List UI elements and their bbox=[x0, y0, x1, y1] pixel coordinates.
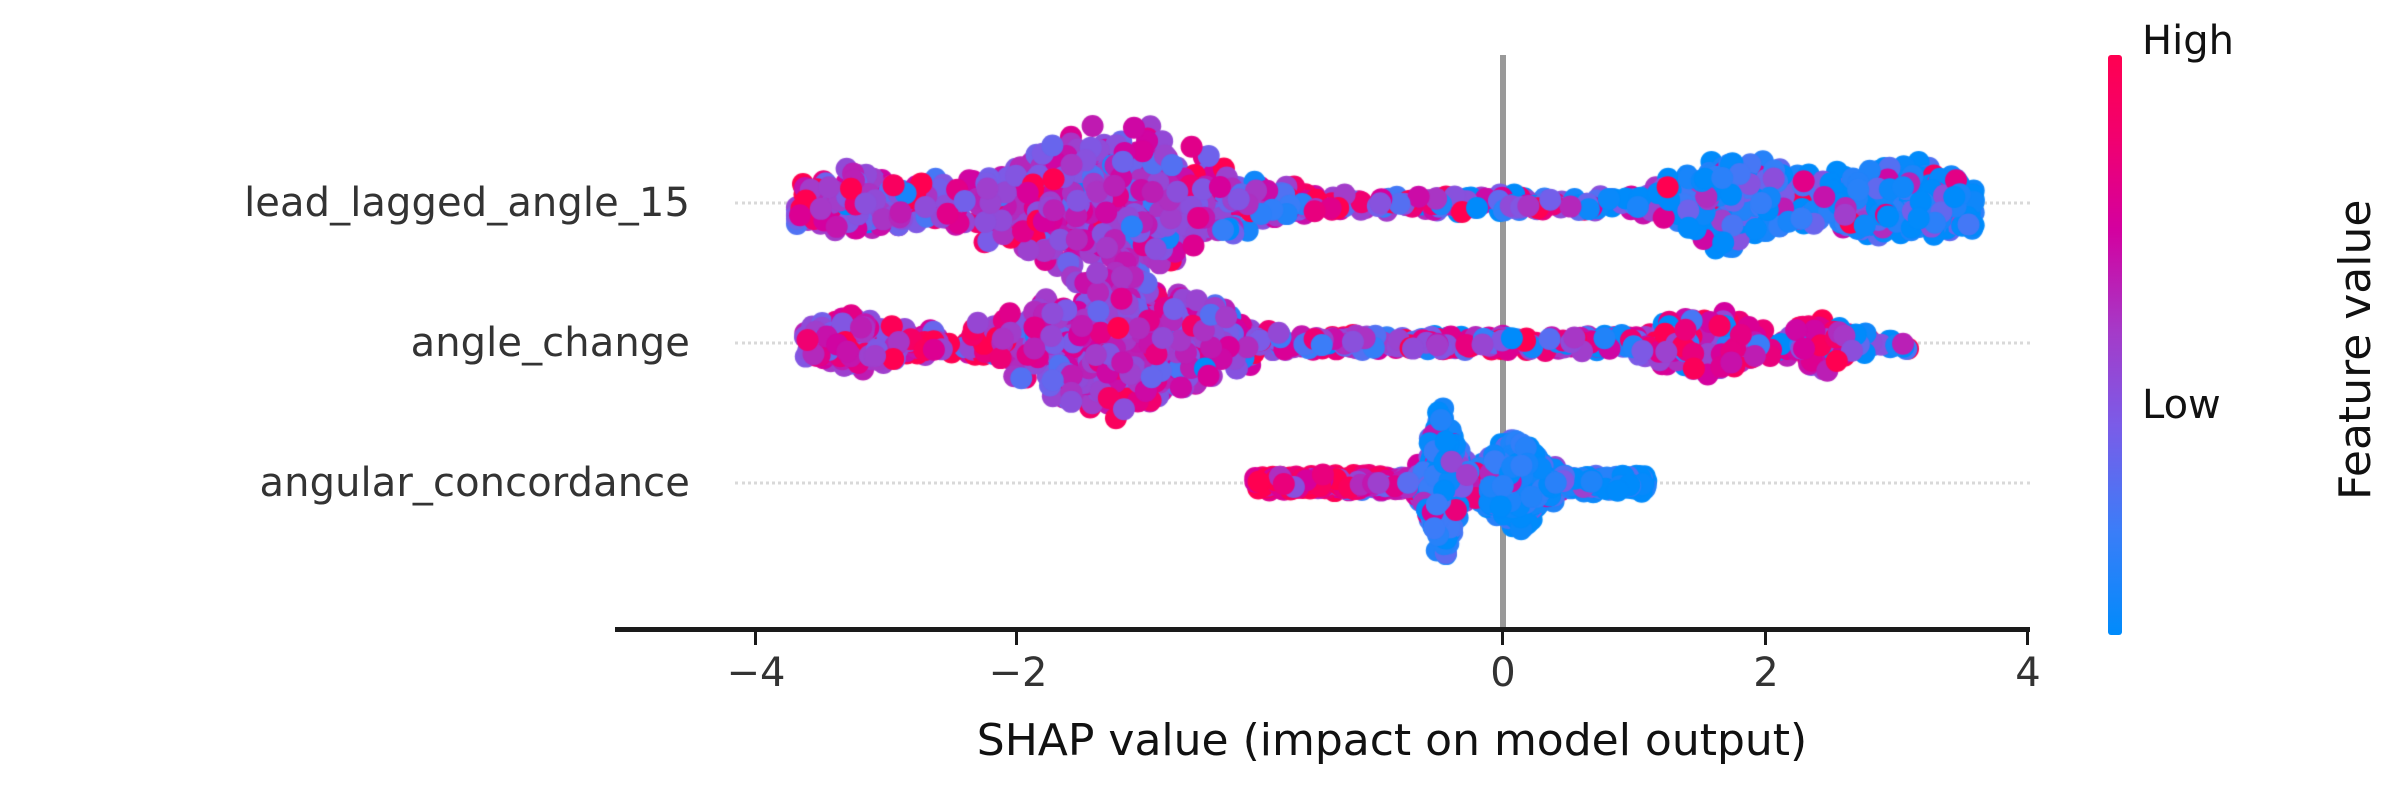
gridline-row-2 bbox=[735, 482, 2030, 485]
colorbar-title: Feature value bbox=[2330, 200, 2381, 500]
x-tick-label-minus4: −4 bbox=[727, 650, 786, 696]
x-tick-mark-2 bbox=[1764, 632, 1767, 645]
x-tick-mark-4 bbox=[2026, 632, 2029, 645]
x-tick-mark-0 bbox=[1501, 632, 1504, 645]
feature-label-lead-lagged-angle-15: lead_lagged_angle_15 bbox=[0, 180, 690, 226]
zero-reference-line bbox=[1500, 55, 1506, 632]
x-tick-label-4: 4 bbox=[2015, 650, 2040, 696]
x-tick-label-0: 0 bbox=[1490, 650, 1515, 696]
x-axis-line bbox=[615, 627, 2030, 632]
colorbar-high-label: High bbox=[2142, 18, 2234, 64]
x-axis-title: SHAP value (impact on model output) bbox=[977, 715, 1807, 766]
shap-beeswarm-figure: lead_lagged_angle_15 angle_change angula… bbox=[0, 0, 2400, 810]
feature-label-angular-concordance: angular_concordance bbox=[0, 460, 690, 506]
x-tick-label-2: 2 bbox=[1753, 650, 1778, 696]
x-tick-mark-minus4 bbox=[754, 632, 757, 645]
gridline-row-1 bbox=[735, 342, 2030, 345]
x-tick-mark-minus2 bbox=[1015, 632, 1018, 645]
feature-label-angle-change: angle_change bbox=[0, 320, 690, 366]
x-tick-label-minus2: −2 bbox=[989, 650, 1048, 696]
feature-value-colorbar bbox=[2108, 55, 2122, 635]
colorbar-low-label: Low bbox=[2142, 382, 2221, 428]
gridline-row-0 bbox=[735, 202, 2030, 205]
